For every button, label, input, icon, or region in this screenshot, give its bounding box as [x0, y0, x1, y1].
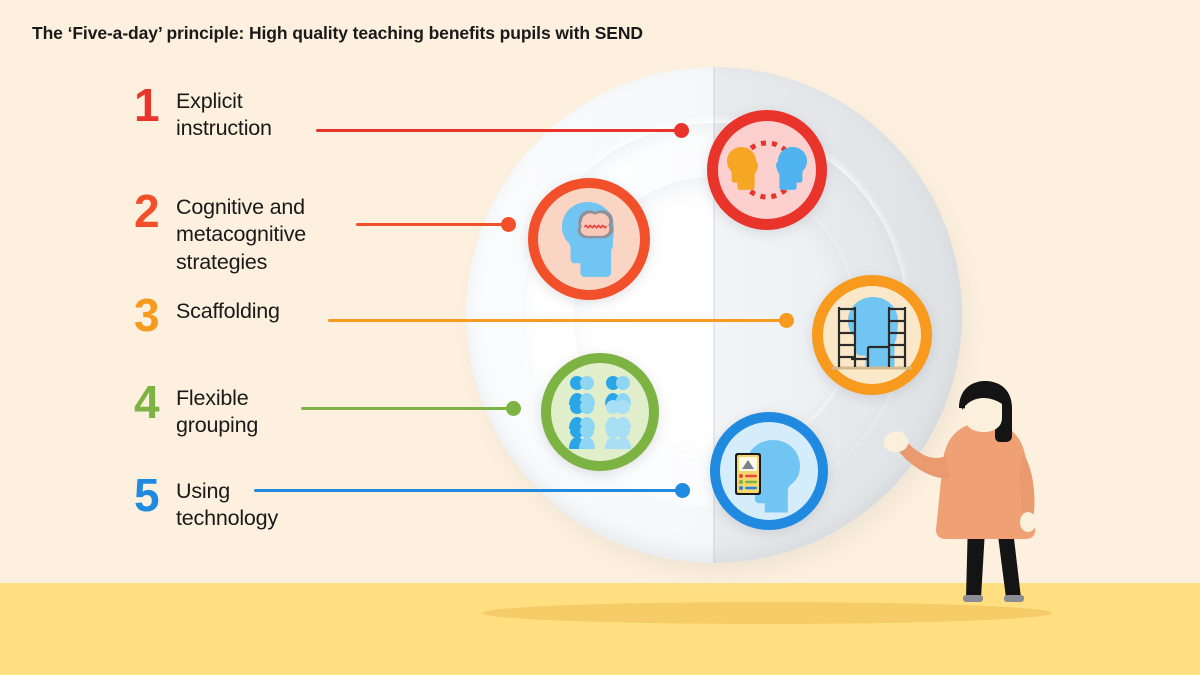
connector-line-1: [316, 129, 682, 132]
list-item-number: 4: [134, 381, 176, 423]
right-hand: [1020, 512, 1036, 532]
connector-line-4: [301, 407, 513, 410]
list-item-label: Cognitive and metacognitive strategies: [176, 190, 306, 276]
connector-dot-5: [675, 483, 690, 498]
list-item-label: Using technology: [176, 474, 278, 533]
list-item-label: Scaffolding: [176, 294, 280, 325]
list-item-number: 3: [134, 294, 176, 336]
connector-line-2: [356, 223, 508, 226]
list-item-3[interactable]: 3 Scaffolding: [134, 294, 280, 336]
badge-explicit-instruction[interactable]: [707, 110, 827, 230]
infographic-canvas: The ‘Five-a-day’ principle: High quality…: [0, 0, 1200, 675]
list-item-5[interactable]: 5 Using technology: [134, 474, 278, 533]
connector-line-3: [328, 319, 786, 322]
head-with-scaffolding-icon: [824, 287, 920, 383]
connector-dot-3: [779, 313, 794, 328]
list-item-number: 5: [134, 474, 176, 516]
connector-line-5: [254, 489, 682, 492]
list-item-label: Explicit instruction: [176, 84, 272, 143]
head-with-tablet-icon: [724, 426, 814, 516]
people-grid-icon: [557, 369, 643, 455]
list-item-label: Flexible grouping: [176, 381, 258, 440]
badge-flexible-grouping[interactable]: [541, 353, 659, 471]
list-item-number: 1: [134, 84, 176, 126]
teacher-figure: [880, 380, 1080, 615]
page-title: The ‘Five-a-day’ principle: High quality…: [32, 23, 643, 44]
head-with-brain-icon: [543, 193, 635, 285]
list-item-2[interactable]: 2 Cognitive and metacognitive strategies: [134, 190, 306, 276]
right-shoe: [1004, 595, 1024, 602]
connector-dot-2: [501, 217, 516, 232]
list-item-4[interactable]: 4 Flexible grouping: [134, 381, 258, 440]
list-item-number: 2: [134, 190, 176, 232]
badge-scaffolding[interactable]: [812, 275, 932, 395]
badge-cognitive-strategies[interactable]: [528, 178, 650, 300]
left-shoe: [963, 595, 983, 602]
list-item-1[interactable]: 1 Explicit instruction: [134, 84, 272, 143]
connector-dot-1: [674, 123, 689, 138]
left-hand: [884, 431, 909, 452]
two-facing-heads-icon: [719, 122, 815, 218]
badge-using-technology[interactable]: [710, 412, 828, 530]
connector-dot-4: [506, 401, 521, 416]
